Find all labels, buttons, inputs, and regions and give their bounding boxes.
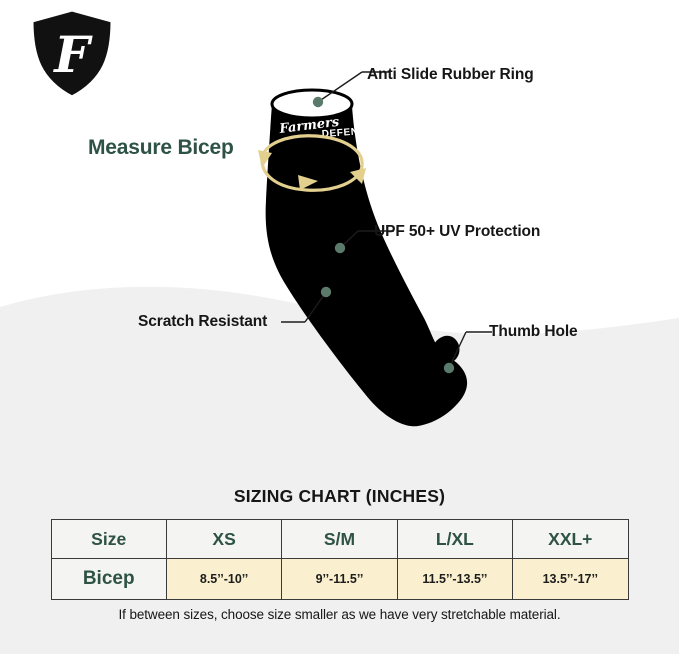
sleeve-opening [272,90,352,118]
annotation-label-anti-slide-rubber-ring: Anti Slide Rubber Ring [367,66,534,84]
sizing-chart-note: If between sizes, choose size smaller as… [0,607,679,622]
row-label-bicep: Bicep [51,559,166,600]
header-cell-lxl: L/XL [397,520,512,559]
annotation-leader-lines [281,72,492,368]
table-header-row: Size XS S/M L/XL XXL+ [51,520,628,559]
shield-logo-icon: F [28,8,116,100]
header-cell-size: Size [51,520,166,559]
cell-bicep-xxl: 13.5’’-17’’ [513,559,628,600]
header-cell-sm: S/M [282,520,397,559]
measure-bicep-label: Measure Bicep [88,136,234,160]
cell-bicep-xs: 8.5’’-10’’ [166,559,281,600]
product-sizing-infographic: F Farmers DEFENSE [0,0,679,654]
header-cell-xs: XS [166,520,281,559]
sizing-chart-title: SIZING CHART (INCHES) [0,486,679,507]
header-cell-xxl: XXL+ [513,520,628,559]
sleeve-wordmark-bold: DEFENSE [321,125,373,140]
annotation-label-thumb-hole: Thumb Hole [489,323,578,341]
sizing-chart-table: Size XS S/M L/XL XXL+ Bicep 8.5’’-10’’ 9… [51,519,629,600]
table-row: Bicep 8.5’’-10’’ 9’’-11.5’’ 11.5’’-13.5’… [51,559,628,600]
cell-bicep-sm: 9’’-11.5’’ [282,559,397,600]
cell-bicep-lxl: 11.5’’-13.5’’ [397,559,512,600]
circular-measure-arrows-icon [258,136,366,191]
annotation-label-upf-protection: UPF 50+ UV Protection [374,223,540,241]
sizing-chart-section: SIZING CHART (INCHES) Size XS S/M L/XL X… [0,486,679,622]
sleeve-body [266,104,467,426]
sleeve-wordmark-script: Farmers [278,115,341,137]
annotation-label-scratch-resistant: Scratch Resistant [138,313,267,331]
logo-letter: F [52,25,93,84]
